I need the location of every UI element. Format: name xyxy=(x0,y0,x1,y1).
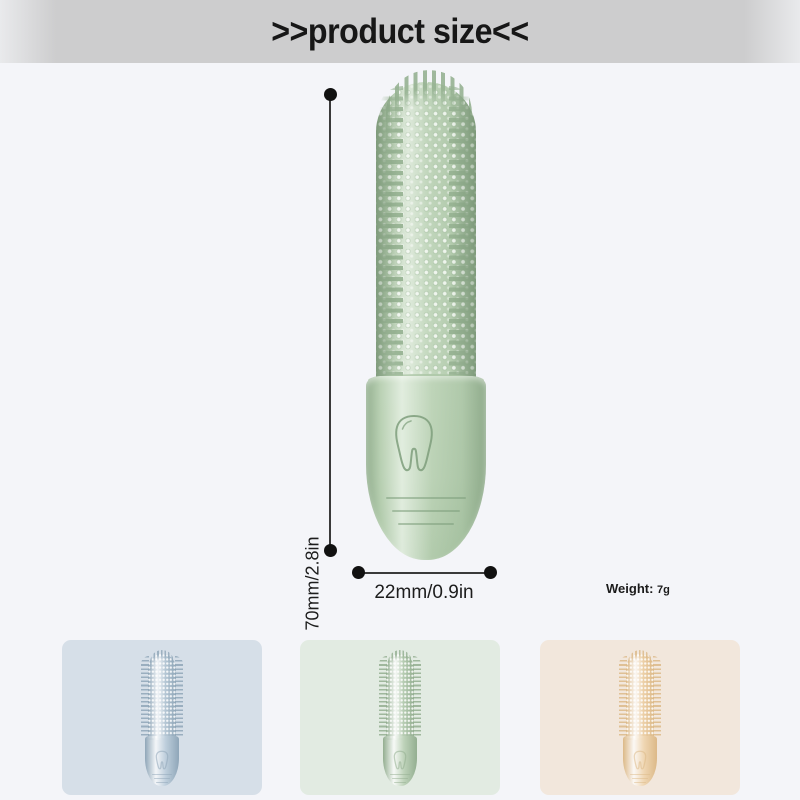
width-dimension-line xyxy=(357,572,490,574)
variant-product-image xyxy=(140,654,184,782)
weight-value: 7g xyxy=(657,584,670,596)
main-product-image xyxy=(352,82,500,560)
grip-ridge xyxy=(632,778,648,779)
tooth-icon xyxy=(154,750,170,770)
page-title: >>product size<< xyxy=(271,12,529,52)
grip-ridge xyxy=(392,510,460,512)
product-size-infographic: >>product size<< 70mm/2.8in xyxy=(0,0,800,800)
variant-grip-ridges xyxy=(152,774,172,784)
variant-card-beige[interactable] xyxy=(540,640,740,795)
weight-label-text: Weight: xyxy=(606,581,657,596)
variant-fringe-right xyxy=(175,656,183,738)
variant-card-blue-gray[interactable] xyxy=(62,640,262,795)
grip-ridge xyxy=(390,774,410,775)
weight-label: Weight: 7g xyxy=(606,581,670,596)
variant-fringe-top xyxy=(150,650,174,670)
variant-grip-ridges xyxy=(630,774,650,784)
grip-ridge xyxy=(386,497,466,499)
variant-fringe-left xyxy=(379,656,387,738)
grip-ridge xyxy=(630,774,650,775)
variant-fringe-top xyxy=(628,650,652,670)
grip-ridge xyxy=(154,778,170,779)
tooth-icon xyxy=(391,412,437,474)
variant-fringe-right xyxy=(653,656,661,738)
width-dimension-endpoint-right xyxy=(484,566,497,579)
header-banner: >>product size<< xyxy=(0,0,800,63)
variant-product-image xyxy=(618,654,662,782)
bristle-fringe-top xyxy=(386,70,472,140)
variant-grip-ridges xyxy=(390,774,410,784)
height-label-wrapper: 70mm/2.8in xyxy=(285,260,325,380)
grip-ridge xyxy=(634,782,646,783)
variant-fringe-top xyxy=(388,650,412,670)
width-dimension-label: 22mm/0.9in xyxy=(318,582,530,604)
variant-fringe-left xyxy=(619,656,627,738)
grip-ridge xyxy=(398,523,454,525)
height-dimension-endpoint-bottom xyxy=(324,544,337,557)
grip-ridge xyxy=(156,782,168,783)
grip-ridge xyxy=(152,774,172,775)
variant-fringe-left xyxy=(141,656,149,738)
variant-card-sage-green[interactable] xyxy=(300,640,500,795)
tooth-icon xyxy=(632,750,648,770)
brush-head xyxy=(376,82,476,394)
grip-ridge xyxy=(394,782,406,783)
variant-product-image xyxy=(378,654,422,782)
width-dimension-endpoint-left xyxy=(352,566,365,579)
grip-ridge xyxy=(392,778,408,779)
height-dimension-endpoint-top xyxy=(324,88,337,101)
height-dimension-line xyxy=(329,95,331,551)
tooth-icon xyxy=(392,750,408,770)
base-grip-ridges xyxy=(386,497,466,531)
variant-fringe-right xyxy=(413,656,421,738)
color-variant-gallery xyxy=(0,640,800,800)
